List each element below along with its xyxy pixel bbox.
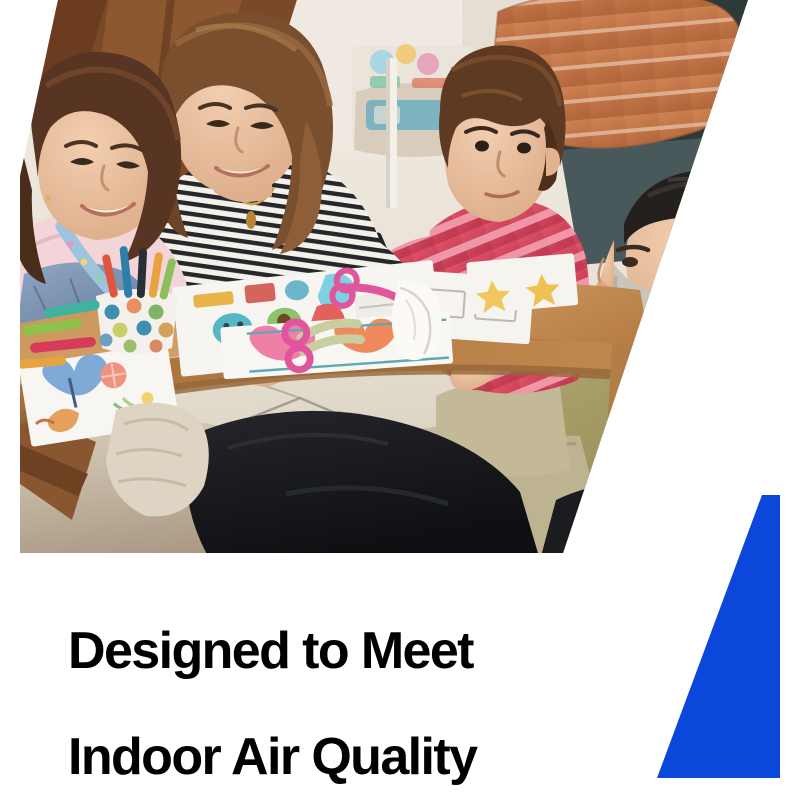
hero-photo [0,0,800,560]
page-title: Designed to Meet Indoor Air Quality Emis… [68,572,628,800]
headline-line-2: Indoor Air Quality [68,731,628,784]
hero-photo-frame [0,0,800,560]
blue-accent-shape [640,480,800,800]
poster-card: Designed to Meet Indoor Air Quality Emis… [0,0,800,800]
blue-accent-polygon [657,495,780,778]
headline-line-1: Designed to Meet [68,625,628,678]
